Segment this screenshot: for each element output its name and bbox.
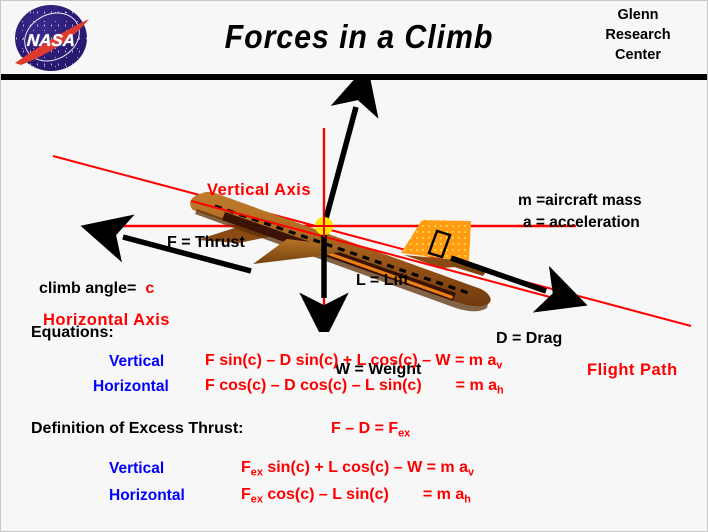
excess-vertical-terms: sin(c) + L cos(c) – W = m a <box>263 459 468 476</box>
equations-vertical-expression: F sin(c) – D sin(c) + L cos(c) – W = m a… <box>205 352 502 371</box>
equations-vertical-terms: F sin(c) – D sin(c) + L cos(c) – W = m a <box>205 352 496 369</box>
equations-horizontal-expression: F cos(c) – D cos(c) – L sin(c)= m ah <box>205 377 504 396</box>
excess-horizontal-expression: Fex cos(c) – L sin(c)= m ah <box>241 486 471 505</box>
center-line-2: Research <box>583 25 693 45</box>
label-climb-angle-symbol: c <box>145 280 154 297</box>
excess-vertical-expression: Fex sin(c) + L cos(c) – W = m av <box>241 459 474 478</box>
forces-diagram: Vertical Axis F = Thrust climb angle=c H… <box>1 80 707 332</box>
equations-vertical-subscript: v <box>496 359 502 371</box>
nasa-logo-icon: NASA <box>15 5 87 71</box>
excess-horizontal-rhs: = m a <box>423 486 464 503</box>
excess-vertical-lead-subscript: ex <box>251 466 263 478</box>
excess-horizontal-lead-subscript: ex <box>251 493 263 505</box>
page-title: Forces in a Climb <box>203 18 516 56</box>
excess-thrust-heading: Definition of Excess Thrust: <box>31 420 243 438</box>
lift-arrow <box>324 107 356 226</box>
label-lift: L = Lift <box>356 272 409 290</box>
center-line-1: Glenn <box>583 5 693 25</box>
label-climb-angle-text: climb angle= <box>39 280 136 297</box>
excess-vertical-subscript: v <box>468 466 474 478</box>
excess-vertical-lead: F <box>241 459 251 476</box>
excess-horizontal-label: Horizontal <box>109 487 185 505</box>
equations-vertical-label: Vertical <box>109 353 164 371</box>
label-thrust: F = Thrust <box>167 234 245 252</box>
excess-thrust-formula-subscript: ex <box>398 427 410 439</box>
label-climb-angle: climb angle=c <box>39 280 154 298</box>
equations-horizontal-label: Horizontal <box>93 378 169 396</box>
equations-heading: Equations: <box>31 324 114 342</box>
equations-section: Equations: Vertical F sin(c) – D sin(c) … <box>1 319 707 531</box>
label-vertical-axis: Vertical Axis <box>207 181 311 200</box>
excess-horizontal-lead: F <box>241 486 251 503</box>
label-mass-definition: m =aircraft mass <box>518 192 642 210</box>
excess-vertical-label: Vertical <box>109 460 164 478</box>
nasa-logo-wordmark: NASA <box>14 31 87 51</box>
equations-horizontal-terms: F cos(c) – D cos(c) – L sin(c) <box>205 377 422 394</box>
excess-horizontal-subscript: h <box>464 493 471 505</box>
excess-thrust-formula-lhs: F – D = F <box>331 420 398 437</box>
page-root: NASA Forces in a Climb Glenn Research Ce… <box>0 0 708 532</box>
equations-horizontal-subscript: h <box>497 384 504 396</box>
excess-thrust-formula: F – D = Fex <box>331 420 410 439</box>
equations-horizontal-rhs: = m a <box>456 377 497 394</box>
page-header: NASA Forces in a Climb Glenn Research Ce… <box>1 1 707 74</box>
center-line-3: Center <box>583 45 693 65</box>
label-acceleration-definition: a = acceleration <box>523 214 640 232</box>
excess-horizontal-terms: cos(c) – L sin(c) <box>263 486 389 503</box>
research-center-name: Glenn Research Center <box>583 5 693 65</box>
